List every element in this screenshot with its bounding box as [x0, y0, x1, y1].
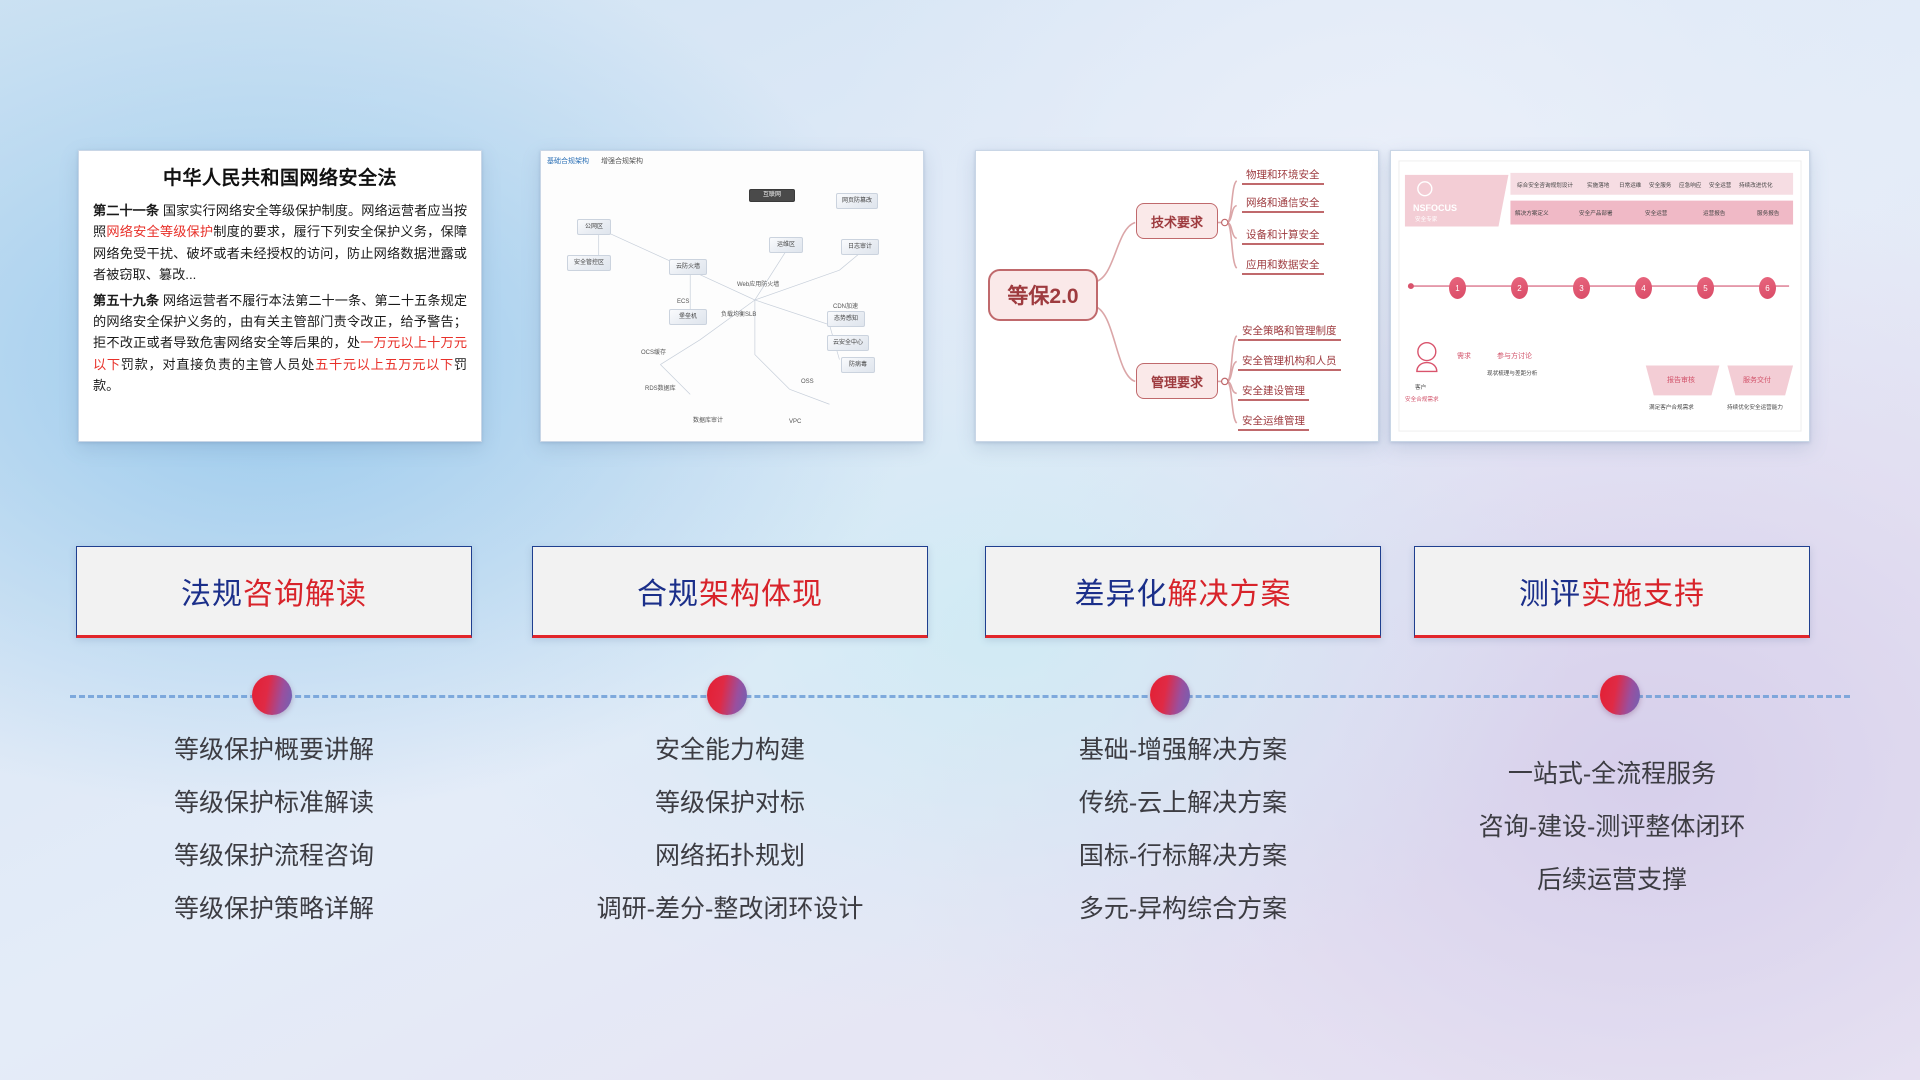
roadmap-top-7: 持续改进优化 — [1739, 181, 1773, 189]
headline-2-red: 架构体现 — [699, 578, 823, 611]
article-59-label: 第五十九条 — [93, 293, 159, 308]
roadmap-step-4: 4 — [1635, 277, 1652, 299]
roadmap-top-3: 日常运维 — [1619, 181, 1641, 189]
headline-text-2: 合规架构体现 — [637, 569, 823, 613]
list-item: 网络拓扑规划 — [532, 844, 928, 869]
mindmap-leaf-org-personnel: 安全管理机构和人员 — [1238, 353, 1341, 371]
arch-node-cloud-security-center: 云安全中心 — [827, 335, 869, 351]
mindmap-leaf-device-compute: 设备和计算安全 — [1242, 227, 1324, 245]
arch-node-web-tamper: 网页防篡改 — [836, 193, 878, 209]
mindmap-leaf-physical-env: 物理和环境安全 — [1242, 167, 1324, 185]
roadmap-phase-3: 安全运营 — [1645, 209, 1667, 217]
headline-4-blue: 测评 — [1519, 578, 1581, 611]
roadmap-top-1: 综合安全咨询规划设计 — [1517, 181, 1573, 189]
list-item: 等级保护对标 — [532, 791, 928, 816]
roadmap-diagram: NSFOCUS 安全专家 综合安全咨询规划设计 实施落地 日常运维 安全服务 应… — [1391, 151, 1809, 441]
list-item: 等级保护标准解读 — [76, 791, 472, 816]
detail-list-3: 基础-增强解决方案 传统-云上解决方案 国标-行标解决方案 多元-异构综合方案 — [985, 738, 1381, 950]
headline-3-red: 解决方案 — [1168, 578, 1292, 611]
list-item: 等级保护流程咨询 — [76, 844, 472, 869]
mindmap-leaf-policy-system: 安全策略和管理制度 — [1238, 323, 1341, 341]
arch-label-cdn: CDN加速 — [833, 301, 858, 310]
headline-2-blue: 合规 — [637, 578, 699, 611]
roadmap-phase-1: 解决方案定义 — [1515, 209, 1549, 217]
roadmap-customer-label: 客户 — [1415, 383, 1426, 391]
timeline-dot-3[interactable] — [1150, 675, 1190, 715]
list-item: 调研-差分-整改闭环设计 — [532, 897, 928, 922]
roadmap-step-1: 1 — [1449, 277, 1466, 299]
mindmap-branch-management: 管理要求 — [1136, 363, 1218, 399]
roadmap-top-4: 安全服务 — [1649, 181, 1671, 189]
arch-label-slb: 负载均衡SLB — [721, 309, 756, 318]
arch-node-internet: 互联网 — [749, 189, 795, 202]
headline-box-regulation-consulting[interactable]: 法规咨询解读 — [76, 546, 472, 638]
arch-label-ocs: OCS缓存 — [641, 347, 666, 356]
roadmap-step-5: 5 — [1697, 277, 1714, 299]
roadmap-phase-2: 安全产品部署 — [1579, 209, 1613, 217]
image-card-row: 中华人民共和国网络安全法 第二十一条 国家实行网络安全等级保护制度。网络运营者应… — [0, 150, 1920, 442]
timeline-dot-1[interactable] — [252, 675, 292, 715]
arch-node-bastion: 堡垒机 — [669, 309, 707, 325]
roadmap-bottom-meet-compliance: 满足客户合规需求 — [1649, 403, 1694, 411]
detail-list-row: 等级保护概要讲解 等级保护标准解读 等级保护流程咨询 等级保护策略详解 安全能力… — [0, 738, 1920, 968]
law-title: 中华人民共和国网络安全法 — [93, 163, 467, 190]
roadmap-top-5: 应急响应 — [1679, 181, 1701, 189]
arch-node-security-control: 安全管控区 — [567, 255, 611, 271]
roadmap-top-2: 实施落地 — [1587, 181, 1609, 189]
list-item: 多元-异构综合方案 — [985, 897, 1381, 922]
arch-label-ecs: ECS — [677, 299, 689, 305]
slide-canvas: 中华人民共和国网络安全法 第二十一条 国家实行网络安全等级保护制度。网络运营者应… — [0, 0, 1920, 1080]
article-59-text-2: 罚款，对直接负责的主管人员处 — [121, 357, 315, 372]
headline-4-red: 实施支持 — [1581, 578, 1705, 611]
list-item: 传统-云上解决方案 — [985, 791, 1381, 816]
arch-label-rds: RDS数据库 — [645, 383, 676, 392]
mindmap-leaf-ops-mgmt: 安全运维管理 — [1238, 413, 1309, 431]
arch-node-public-zone: 公网区 — [577, 219, 611, 235]
roadmap-bottom-optimize: 持续优化安全运营能力 — [1727, 403, 1783, 411]
card-cloud-architecture: 基础合规架构 增强合规架构 — [540, 150, 924, 442]
headline-box-compliance-architecture[interactable]: 合规架构体现 — [532, 546, 928, 638]
list-item: 咨询-建设-测评整体闭环 — [1414, 815, 1810, 840]
arch-label-db-audit: 数据库审计 — [693, 415, 723, 424]
roadmap-step-3: 3 — [1573, 277, 1590, 299]
roadmap-phase-5: 服务报告 — [1757, 209, 1779, 217]
article-21-label: 第二十一条 — [93, 203, 159, 218]
detail-list-1: 等级保护概要讲解 等级保护标准解读 等级保护流程咨询 等级保护策略详解 — [76, 738, 472, 950]
list-item: 安全能力构建 — [532, 738, 928, 763]
mindmap-diagram: 等保2.0 技术要求 物理和环境安全 网络和通信安全 设备和计算安全 应用和数据… — [976, 151, 1378, 441]
roadmap-bottom-service-delivery: 服务交付 — [1743, 375, 1771, 385]
card-mindmap-dengbao: 等保2.0 技术要求 物理和环境安全 网络和通信安全 设备和计算安全 应用和数据… — [975, 150, 1379, 442]
timeline — [0, 666, 1920, 726]
article-21-highlight: 网络安全等级保护 — [106, 224, 213, 239]
headline-1-red: 咨询解读 — [243, 578, 367, 611]
timeline-dashed-line — [70, 695, 1850, 698]
arch-node-ops-zone: 运维区 — [769, 237, 803, 253]
detail-list-2: 安全能力构建 等级保护对标 网络拓扑规划 调研-差分-整改闭环设计 — [532, 738, 928, 950]
roadmap-step-2: 2 — [1511, 277, 1528, 299]
list-item: 等级保护策略详解 — [76, 897, 472, 922]
roadmap-bottom-gap-analysis: 现状梳理与差距分析 — [1487, 369, 1537, 377]
arch-node-antivirus: 防病毒 — [841, 357, 875, 373]
roadmap-bottom-discussion: 参与方讨论 — [1497, 351, 1532, 361]
roadmap-brand-sub: 安全专家 — [1415, 215, 1437, 223]
roadmap-phase-4: 运营报告 — [1703, 209, 1725, 217]
list-item: 后续运营支撑 — [1414, 868, 1810, 893]
list-item: 基础-增强解决方案 — [985, 738, 1381, 763]
mindmap-leaf-construction-mgmt: 安全建设管理 — [1238, 383, 1309, 401]
mindmap-branch-technical: 技术要求 — [1136, 203, 1218, 239]
headline-3-blue: 差异化 — [1075, 578, 1168, 611]
mindmap-leaf-app-data: 应用和数据安全 — [1242, 257, 1324, 275]
roadmap-brand: NSFOCUS — [1413, 203, 1457, 213]
roadmap-customer-need: 安全合规需求 — [1405, 395, 1439, 403]
law-article-59: 第五十九条 网络运营者不履行本法第二十一条、第二十五条规定的网络安全保护义务的，… — [93, 290, 467, 397]
roadmap-top-6: 安全运营 — [1709, 181, 1731, 189]
card-nsfocus-roadmap: NSFOCUS 安全专家 综合安全咨询规划设计 实施落地 日常运维 安全服务 应… — [1390, 150, 1810, 442]
arch-node-cloud-firewall: 云防火墙 — [669, 259, 707, 275]
roadmap-step-6: 6 — [1759, 277, 1776, 299]
mindmap-root-node: 等保2.0 — [988, 269, 1098, 321]
timeline-dot-2[interactable] — [707, 675, 747, 715]
headline-text-1: 法规咨询解读 — [181, 569, 367, 613]
headline-box-assessment-support[interactable]: 测评实施支持 — [1414, 546, 1810, 638]
headline-box-differentiated-solution[interactable]: 差异化解决方案 — [985, 546, 1381, 638]
arch-label-oss: OSS — [801, 379, 814, 385]
architecture-diagram: 基础合规架构 增强合规架构 — [541, 151, 923, 441]
mindmap-leaf-network-comm: 网络和通信安全 — [1242, 195, 1324, 213]
arch-node-situational: 态势感知 — [827, 311, 865, 327]
article-59-highlight-2: 五千元以上五万元以下 — [315, 357, 454, 372]
list-item: 等级保护概要讲解 — [76, 738, 472, 763]
detail-list-4: 一站式-全流程服务 咨询-建设-测评整体闭环 后续运营支撑 — [1414, 738, 1810, 921]
list-item: 国标-行标解决方案 — [985, 844, 1381, 869]
headline-text-4: 测评实施支持 — [1519, 569, 1705, 613]
card-cybersecurity-law: 中华人民共和国网络安全法 第二十一条 国家实行网络安全等级保护制度。网络运营者应… — [78, 150, 482, 442]
headline-1-blue: 法规 — [181, 578, 243, 611]
roadmap-bottom-report-review: 报告审核 — [1667, 375, 1695, 385]
law-document: 中华人民共和国网络安全法 第二十一条 国家实行网络安全等级保护制度。网络运营者应… — [79, 151, 481, 441]
arch-label-vpc: VPC — [789, 419, 801, 425]
headline-row: 法规咨询解读 合规架构体现 差异化解决方案 测评实施支持 — [0, 546, 1920, 638]
roadmap-bottom-demand: 需求 — [1457, 351, 1471, 361]
law-article-21: 第二十一条 国家实行网络安全等级保护制度。网络运营者应当按照网络安全等级保护制度… — [93, 200, 467, 286]
headline-text-3: 差异化解决方案 — [1075, 569, 1292, 613]
list-item: 一站式-全流程服务 — [1414, 762, 1810, 787]
timeline-dot-4[interactable] — [1600, 675, 1640, 715]
arch-label-waf: Web应用防火墙 — [737, 279, 779, 288]
arch-node-log-audit: 日志审计 — [841, 239, 879, 255]
